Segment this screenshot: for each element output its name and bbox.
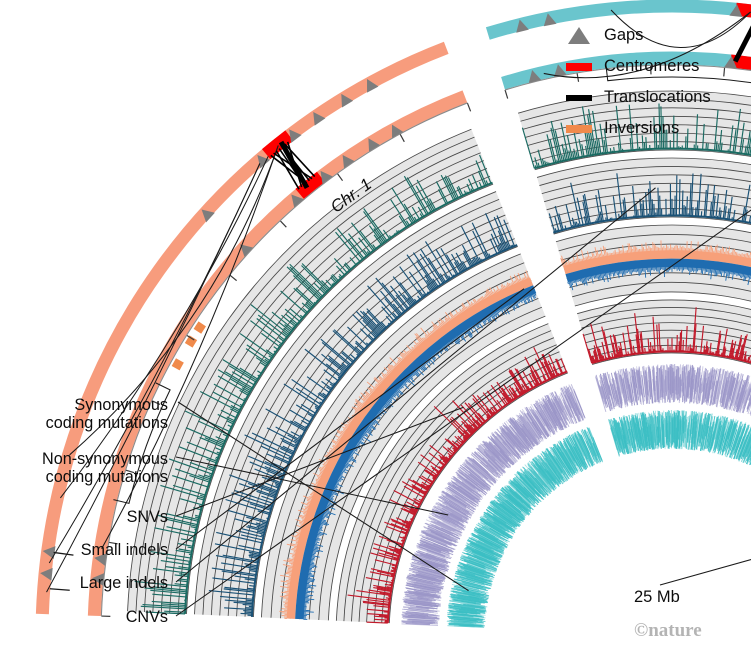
track-spike-cnv-chr2-109 bbox=[718, 145, 719, 151]
track-spike-snvs-chr2-132 bbox=[721, 353, 722, 356]
track-spike-snvs-chr1-164 bbox=[439, 470, 440, 471]
track-spike-snvs-chr1-88 bbox=[403, 537, 405, 538]
paired-spike-up-small-indels-chr2-130 bbox=[736, 252, 737, 256]
track-spike-snvs-chr2-144 bbox=[733, 355, 734, 358]
track-spike-cnv-chr1-280 bbox=[417, 219, 418, 220]
track-spike-snvs-chr1-85 bbox=[402, 540, 404, 541]
track-spike-large-indels-chr1-326 bbox=[512, 245, 513, 247]
paired-spike-dn-small-indels-chr2-17 bbox=[589, 276, 590, 279]
track-spike-large-indels-chr1-281 bbox=[453, 275, 454, 277]
track-spike-large-indels-chr1-282 bbox=[455, 275, 456, 276]
paired-spike-dn-small-indels-chr2-50 bbox=[631, 269, 632, 274]
paired-spike-up-small-indels-chr1-53 bbox=[294, 547, 297, 548]
paired-spike-up-small-indels-chr1-74 bbox=[302, 520, 304, 521]
paired-spike-up-small-indels-chr2-60 bbox=[642, 244, 643, 252]
track-spike-snvs-chr1-320 bbox=[558, 373, 559, 375]
track-spike-large-indels-chr1-136 bbox=[305, 426, 307, 427]
track-spike-large-indels-chr2-18 bbox=[578, 223, 579, 226]
paired-spike-up-small-indels-chr2-4 bbox=[568, 262, 569, 264]
paired-spike-dn-small-indels-chr1-60 bbox=[315, 543, 317, 544]
track-spike-cnv-chr1-234 bbox=[354, 265, 355, 266]
track-spike-large-indels-chr1-4 bbox=[243, 611, 252, 612]
paired-spike-dn-small-indels-chr2-111 bbox=[709, 269, 710, 275]
paired-spike-up-small-indels-chr1-28 bbox=[286, 580, 290, 581]
paired-spike-dn-small-indels-chr1-45 bbox=[311, 562, 314, 563]
track-spike-cnv-chr1-236 bbox=[357, 263, 358, 264]
track-spike-large-indels-chr1-252 bbox=[418, 299, 419, 300]
track-spike-cnv-chr2-1 bbox=[535, 165, 536, 167]
track-spike-large-indels-chr2-89 bbox=[682, 190, 683, 215]
track-spike-cnv-chr1-313 bbox=[467, 192, 468, 194]
track-spike-cnv-chr2-48 bbox=[614, 147, 615, 152]
paired-spike-up-small-indels-chr2-6 bbox=[570, 262, 571, 264]
track-spike-cnv-chr2-14 bbox=[557, 160, 558, 162]
track-spike-large-indels-chr1-158 bbox=[323, 399, 324, 400]
track-spike-snvs-chr1-303 bbox=[543, 381, 544, 382]
paired-spike-up-small-indels-chr2-55 bbox=[635, 246, 636, 252]
paired-spike-dn-small-indels-chr2-39 bbox=[617, 271, 618, 275]
track-spike-cnv-chr1-95 bbox=[217, 456, 218, 457]
track-spike-large-indels-chr1-11 bbox=[246, 600, 253, 601]
track-spike-snvs-chr2-157 bbox=[746, 359, 747, 362]
paired-spike-dn-small-indels-chr2-0 bbox=[568, 282, 569, 284]
paired-spike-dn-small-indels-chr2-106 bbox=[702, 268, 703, 274]
paired-spike-dn-small-indels-chr2-133 bbox=[737, 273, 738, 276]
track-spike-large-indels-chr2-37 bbox=[606, 217, 607, 220]
paired-spike-dn-small-indels-chr2-142 bbox=[748, 275, 749, 278]
track-spike-snvs-chr2-26 bbox=[616, 354, 617, 357]
paired-spike-dn-small-indels-chr2-120 bbox=[720, 270, 721, 274]
paired-spike-up-small-indels-chr1-57 bbox=[296, 542, 298, 543]
paired-spike-dn-small-indels-chr2-57 bbox=[640, 268, 641, 274]
paired-spike-dn-small-indels-chr2-7 bbox=[576, 280, 577, 282]
track-spike-large-indels-chr2-59 bbox=[638, 210, 639, 217]
paired-spike-dn-small-indels-chr2-49 bbox=[630, 269, 631, 273]
paired-spike-dn-small-indels-chr2-4 bbox=[573, 281, 574, 283]
paired-spike-up-small-indels-chr2-15 bbox=[582, 259, 583, 261]
track-spike-snvs-chr1-25 bbox=[386, 598, 390, 599]
track-spike-snvs-chr2-91 bbox=[681, 330, 682, 352]
track-spike-large-indels-chr1-149 bbox=[316, 410, 317, 411]
paired-spike-dn-small-indels-chr2-9 bbox=[579, 279, 580, 281]
paired-spike-up-small-indels-chr1-78 bbox=[304, 515, 306, 516]
track-spike-large-indels-chr1-8 bbox=[243, 604, 253, 605]
track-spike-cnv-chr1-204 bbox=[317, 300, 318, 301]
paired-spike-dn-small-indels-chr1-26 bbox=[306, 586, 310, 587]
paired-spike-up-small-indels-chr2-129 bbox=[735, 252, 736, 256]
track-spike-snvs-chr2-38 bbox=[628, 351, 629, 354]
paired-spike-dn-small-indels-chr1-80 bbox=[322, 518, 324, 519]
track-spike-large-indels-chr1-207 bbox=[369, 343, 370, 344]
paired-spike-dn-small-indels-chr2-41 bbox=[619, 271, 620, 275]
track-spike-snvs-chr1-147 bbox=[430, 485, 431, 486]
track-spike-large-indels-chr1-21 bbox=[249, 586, 254, 587]
paired-spike-up-small-indels-chr2-39 bbox=[614, 251, 615, 254]
track-spike-cnv-chr1-265 bbox=[396, 233, 397, 234]
track-spike-large-indels-chr1-56 bbox=[261, 535, 264, 536]
track-spike-snvs-chr1-311 bbox=[550, 377, 551, 378]
track-spike-cnv-chr1-311 bbox=[464, 194, 465, 195]
track-spike-cnv-chr1-267 bbox=[398, 230, 399, 231]
track-spike-large-indels-chr1-101 bbox=[283, 472, 284, 473]
track-spike-large-indels-chr1-19 bbox=[247, 588, 254, 589]
paired-spike-dn-small-indels-chr2-45 bbox=[624, 270, 625, 275]
paired-spike-up-small-indels-chr2-17 bbox=[585, 258, 586, 261]
track-spike-large-indels-chr1-325 bbox=[511, 245, 512, 247]
track-spike-large-indels-chr1-229 bbox=[392, 321, 393, 322]
paired-spike-dn-small-indels-chr2-8 bbox=[578, 279, 579, 281]
paired-spike-up-small-indels-chr2-135 bbox=[743, 254, 744, 257]
track-spike-large-indels-chr2-87 bbox=[679, 179, 680, 215]
paired-spike-dn-small-indels-chr1-51 bbox=[312, 554, 314, 555]
track-spike-cnv-chr2-46 bbox=[610, 148, 611, 152]
paired-spike-up-small-indels-chr1-46 bbox=[292, 557, 295, 558]
paired-spike-up-small-indels-chr1-20 bbox=[284, 591, 289, 592]
track-spike-large-indels-chr1-168 bbox=[331, 387, 332, 388]
track-spike-cnv-chr1-175 bbox=[285, 338, 286, 339]
paired-spike-up-small-indels-chr2-14 bbox=[581, 259, 582, 261]
paired-spike-up-small-indels-chr1-47 bbox=[292, 555, 295, 556]
paired-spike-up-small-indels-chr1-15 bbox=[283, 598, 288, 599]
paired-spike-dn-small-indels-chr2-29 bbox=[604, 273, 605, 276]
track-spike-large-indels-chr1-303 bbox=[481, 259, 482, 261]
track-spike-large-indels-chr1-234 bbox=[398, 316, 399, 317]
track-spike-cnv-chr1-126 bbox=[240, 408, 241, 409]
track-spike-snvs-chr1-288 bbox=[530, 388, 531, 389]
paired-spike-up-small-indels-chr2-7 bbox=[572, 262, 573, 264]
paired-spike-up-small-indels-chr2-10 bbox=[576, 260, 577, 262]
paired-spike-up-small-indels-chr2-118 bbox=[720, 249, 721, 253]
track-spike-snvs-chr1-149 bbox=[431, 483, 432, 484]
track-spike-cnv-chr1-143 bbox=[254, 383, 255, 384]
track-spike-large-indels-chr1-141 bbox=[310, 420, 311, 421]
paired-spike-dn-small-indels-chr2-34 bbox=[610, 272, 611, 276]
paired-spike-dn-small-indels-chr1-62 bbox=[316, 540, 318, 541]
paired-spike-dn-small-indels-chr2-118 bbox=[718, 270, 719, 275]
track-spike-snvs-chr2-126 bbox=[716, 351, 717, 355]
paired-spike-up-small-indels-chr2-63 bbox=[646, 243, 647, 252]
track-spike-large-indels-chr2-69 bbox=[652, 199, 653, 216]
paired-spike-dn-small-indels-chr1-70 bbox=[318, 531, 320, 532]
paired-spike-dn-small-indels-chr1-21 bbox=[306, 592, 310, 593]
track-spike-large-indels-chr2-31 bbox=[597, 218, 598, 222]
track-spike-snvs-chr1-269 bbox=[514, 398, 515, 399]
paired-spike-up-small-indels-chr2-34 bbox=[607, 252, 608, 256]
track-spike-cnv-chr1-264 bbox=[394, 233, 395, 234]
paired-spike-dn-small-indels-chr1-36 bbox=[308, 573, 311, 574]
track-spike-snvs-chr2-149 bbox=[738, 357, 739, 359]
paired-spike-up-small-indels-chr1-65 bbox=[299, 532, 301, 533]
track-spike-large-indels-chr1-261 bbox=[429, 292, 430, 293]
paired-spike-up-small-indels-chr1-70 bbox=[300, 525, 302, 526]
track-spike-snvs-chr2-106 bbox=[696, 346, 697, 353]
paired-spike-dn-small-indels-chr2-138 bbox=[743, 274, 744, 277]
track-spike-snvs-chr1-108 bbox=[411, 519, 413, 520]
paired-spike-dn-small-indels-chr1-65 bbox=[317, 537, 319, 538]
paired-spike-up-small-indels-chr2-54 bbox=[634, 246, 635, 253]
track-spike-large-indels-chr2-74 bbox=[660, 196, 661, 216]
track-spike-large-indels-chr2-70 bbox=[654, 204, 655, 216]
track-spike-snvs-chr2-90 bbox=[680, 332, 681, 351]
track-spike-snvs-chr1-130 bbox=[421, 499, 422, 500]
track-spike-large-indels-chr1-119 bbox=[294, 448, 296, 449]
track-spike-snvs-chr2-118 bbox=[708, 348, 709, 354]
track-spike-large-indels-chr1-2 bbox=[241, 613, 253, 614]
track-spike-snvs-chr1-3 bbox=[374, 619, 388, 620]
paired-spike-dn-small-indels-chr2-44 bbox=[623, 270, 624, 274]
figure-canvas: Chr. 1Chr. 2Chr. 3 Gaps Centromeres Tran… bbox=[0, 0, 751, 657]
track-spike-cnv-chr1-288 bbox=[429, 212, 430, 213]
track-spike-snvs-chr2-61 bbox=[650, 342, 651, 352]
track-spike-large-indels-chr2-14 bbox=[573, 225, 574, 227]
paired-spike-up-small-indels-chr2-107 bbox=[706, 245, 707, 252]
track-spike-large-indels-chr2-92 bbox=[687, 196, 688, 215]
track-spike-cnv-chr2-8 bbox=[547, 162, 548, 165]
